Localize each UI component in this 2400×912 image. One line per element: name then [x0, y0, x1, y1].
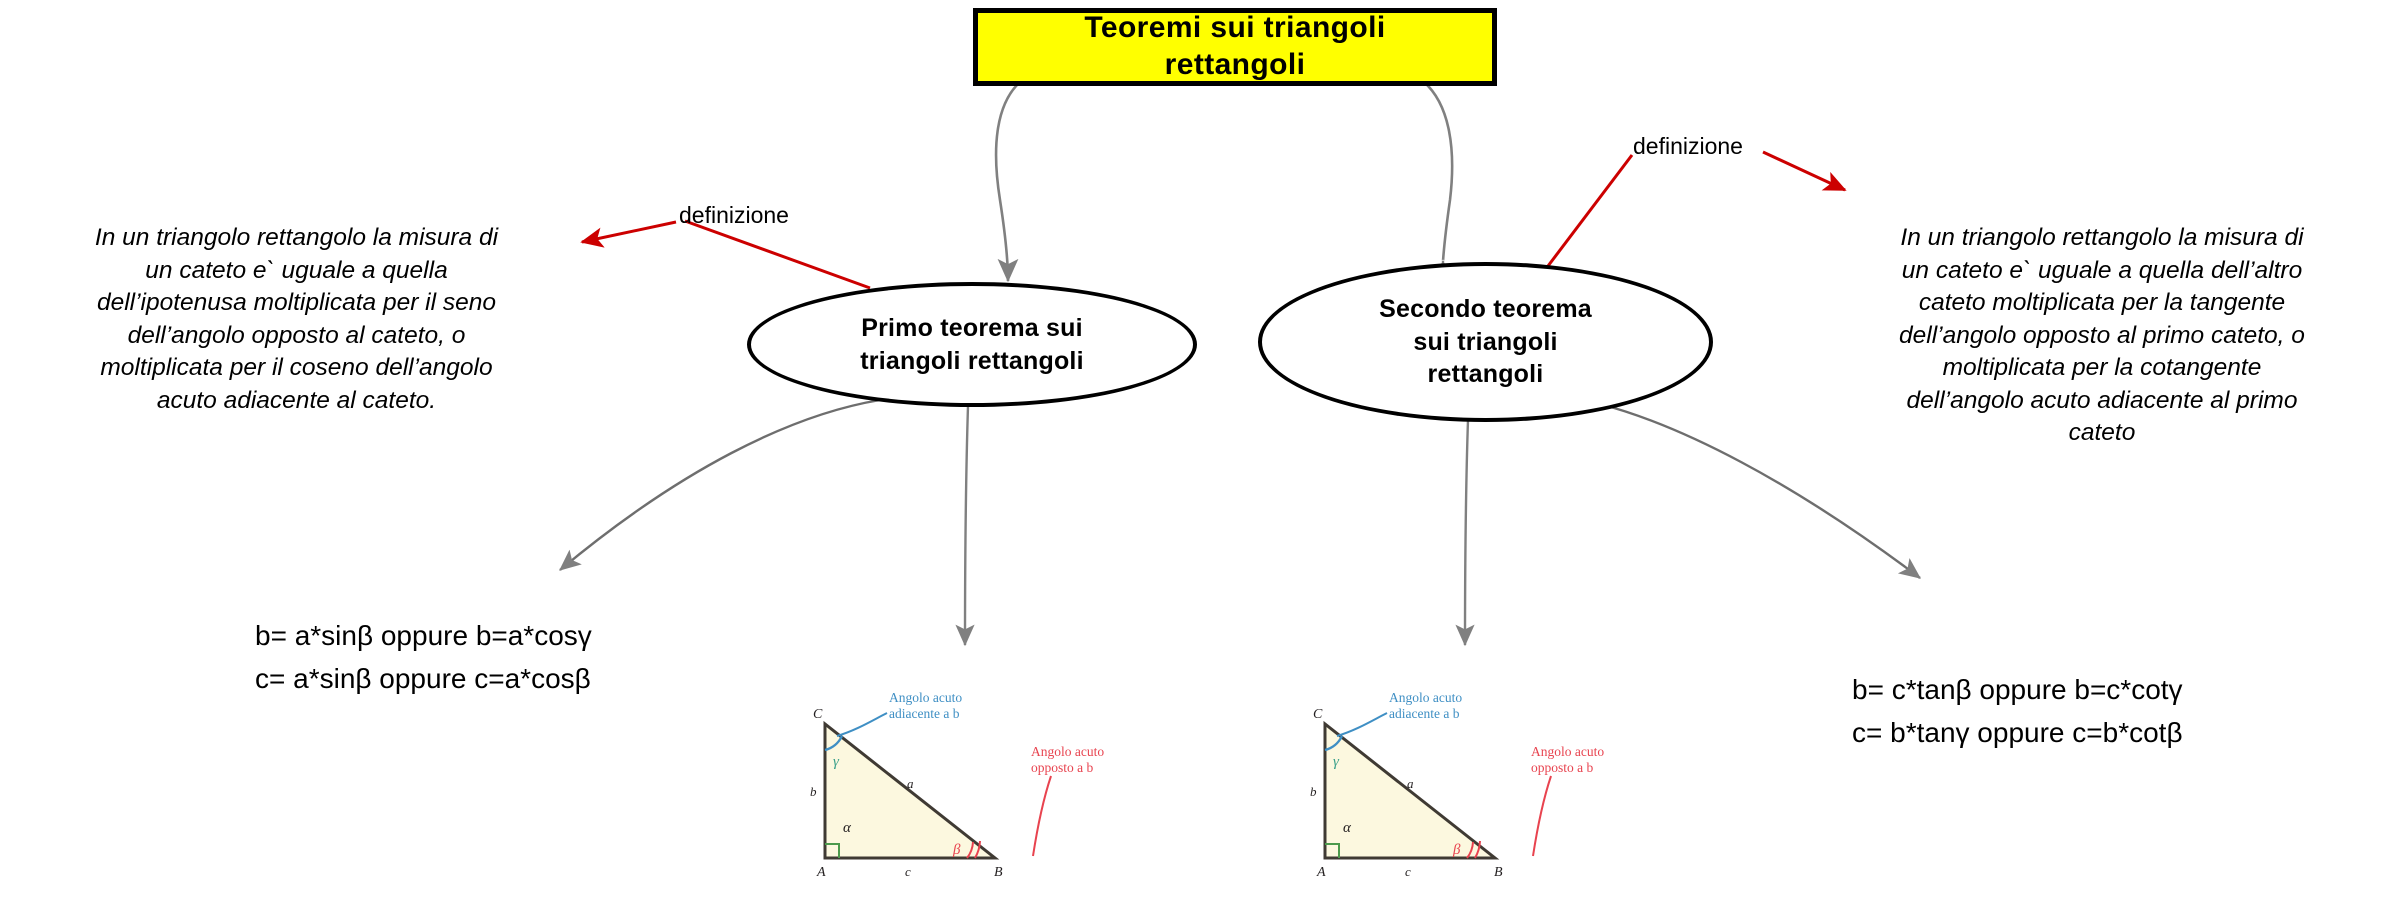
callout-opposite-leader	[1533, 776, 1551, 856]
vertex-A-label: A	[1316, 865, 1326, 880]
definition-text-right: In un triangolo rettangolo la misura di …	[1824, 222, 2380, 450]
angle-beta-label: β	[1452, 842, 1461, 858]
figure-triangle-secondo: Angolo acuto adiacente a b Angolo acuto …	[1295, 680, 1635, 880]
callout-opposite-line1: Angolo acuto	[1031, 744, 1104, 759]
node-primo-teorema[interactable]: Primo teorema sui triangoli rettangoli	[747, 282, 1197, 407]
callout-adjacent-line1: Angolo acuto	[889, 690, 962, 705]
side-a-label: a	[907, 776, 914, 791]
angle-beta-label: β	[952, 842, 961, 858]
triangle-shape	[1325, 724, 1495, 858]
vertex-C-label: C	[1313, 707, 1323, 722]
wire-definizione-right-to-ellipse	[1548, 155, 1632, 266]
node-primo-teorema-label: Primo teorema sui triangoli rettangoli	[860, 312, 1083, 377]
vertex-B-label: B	[1494, 865, 1503, 880]
side-c-label: c	[905, 864, 911, 879]
wire-primo-to-formula-left	[560, 400, 880, 570]
callout-opposite-line2: opposto a b	[1531, 760, 1593, 775]
callout-opposite-line2: opposto a b	[1031, 760, 1093, 775]
callout-adjacent-leader	[837, 713, 887, 736]
side-b-label: b	[810, 784, 817, 799]
callout-adjacent-line2: adiacente a b	[1389, 706, 1460, 721]
side-a-label: a	[1407, 776, 1414, 791]
wire-secondo-to-figure	[1465, 420, 1468, 645]
callout-adjacent-line1: Angolo acuto	[1389, 690, 1462, 705]
wire-title-to-primo	[996, 82, 1020, 281]
callout-opposite-line1: Angolo acuto	[1531, 744, 1604, 759]
side-c-label: c	[1405, 864, 1411, 879]
vertex-C-label: C	[813, 707, 823, 722]
angle-alpha-label: α	[1343, 820, 1352, 836]
node-secondo-teorema[interactable]: Secondo teorema sui triangoli rettangoli	[1258, 262, 1713, 422]
formula-block-right: b= c*tanβ oppure b=c*cotγ c= b*tanγ oppu…	[1852, 668, 2183, 755]
wire-primo-to-figure	[965, 406, 968, 645]
definition-text-left: In un triangolo rettangolo la misura di …	[14, 222, 579, 417]
callout-opposite-leader	[1033, 776, 1051, 856]
edge-label-definizione-right: definizione	[1633, 133, 1743, 160]
wire-title-to-secondo	[1424, 82, 1452, 261]
vertex-A-label: A	[816, 865, 826, 880]
wire-definizione-left-to-ellipse	[685, 221, 870, 288]
side-b-label: b	[1310, 784, 1317, 799]
concept-map-canvas: Teoremi sui triangoli rettangoli Primo t…	[0, 0, 2400, 912]
connector-layer	[0, 0, 2400, 912]
title-box[interactable]: Teoremi sui triangoli rettangoli	[973, 8, 1497, 86]
callout-adjacent-line2: adiacente a b	[889, 706, 960, 721]
wire-definizione-right-to-text	[1763, 152, 1845, 190]
title-box-label: Teoremi sui triangoli rettangoli	[1084, 10, 1385, 83]
triangle-shape	[825, 724, 995, 858]
angle-alpha-label: α	[843, 820, 852, 836]
callout-adjacent-leader	[1337, 713, 1387, 736]
vertex-B-label: B	[994, 865, 1003, 880]
figure-triangle-primo: Angolo acuto adiacente a b Angolo acuto …	[795, 680, 1135, 880]
formula-block-left: b= a*sinβ oppure b=a*cosγ c= a*sinβ oppu…	[255, 614, 592, 701]
edge-label-definizione-left: definizione	[679, 202, 789, 229]
wire-definizione-left-to-text	[582, 222, 676, 242]
node-secondo-teorema-label: Secondo teorema sui triangoli rettangoli	[1379, 293, 1592, 391]
